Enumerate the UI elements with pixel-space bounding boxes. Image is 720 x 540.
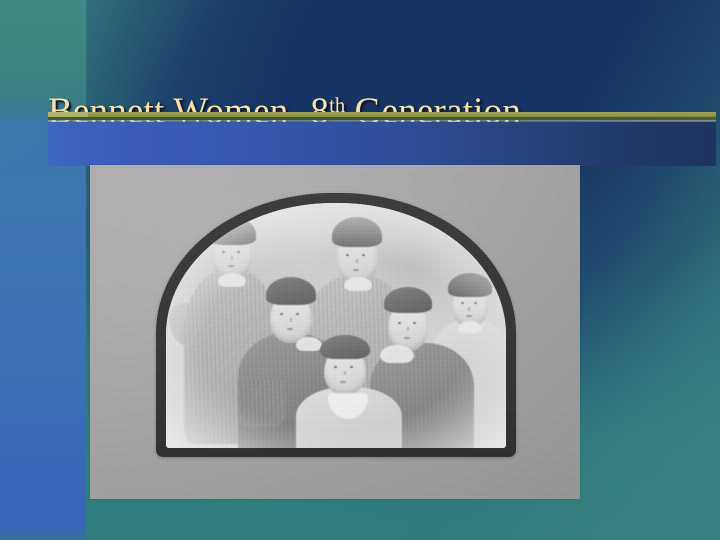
muff-texture (238, 379, 286, 427)
nose (290, 318, 292, 322)
eye (280, 313, 283, 315)
content-band (48, 122, 716, 166)
nose (344, 371, 346, 375)
subject-hair (266, 277, 316, 305)
nose (356, 259, 358, 263)
subject-collar (344, 277, 372, 291)
nose (468, 307, 470, 311)
eye (398, 322, 401, 324)
subject-collar (380, 345, 414, 363)
eye (350, 366, 353, 368)
eye (296, 313, 299, 315)
slide: Bennett Women- 8th Generation (0, 0, 720, 540)
subject-hair (384, 287, 432, 313)
subject-hair (332, 217, 382, 247)
title-divider-left-cap (48, 112, 88, 117)
nose (407, 327, 409, 331)
group-portrait (166, 203, 506, 448)
left-accent-band-teal-bottom (0, 526, 86, 540)
mouth (340, 381, 346, 383)
eye (474, 302, 477, 304)
subject-hair (208, 217, 256, 245)
eye (413, 322, 416, 324)
eye (461, 302, 464, 304)
mouth (287, 328, 293, 330)
eye (237, 251, 240, 253)
eye (362, 254, 365, 256)
photo-arch-mat (156, 193, 516, 457)
subject-collar (296, 337, 322, 351)
photo-mount-card (90, 165, 580, 499)
subject-collar (218, 273, 246, 287)
mouth (228, 265, 234, 267)
mouth (353, 269, 359, 271)
mouth (404, 337, 410, 339)
eye (346, 254, 349, 256)
held-muff (238, 379, 286, 427)
photo-image (166, 203, 506, 448)
title-divider-rule (48, 112, 716, 121)
nose (231, 256, 233, 260)
eye (222, 251, 225, 253)
subject-hair (320, 335, 370, 359)
eye (334, 366, 337, 368)
mouth (466, 315, 472, 317)
subject-collar (458, 321, 482, 333)
subject-hair (448, 273, 492, 297)
